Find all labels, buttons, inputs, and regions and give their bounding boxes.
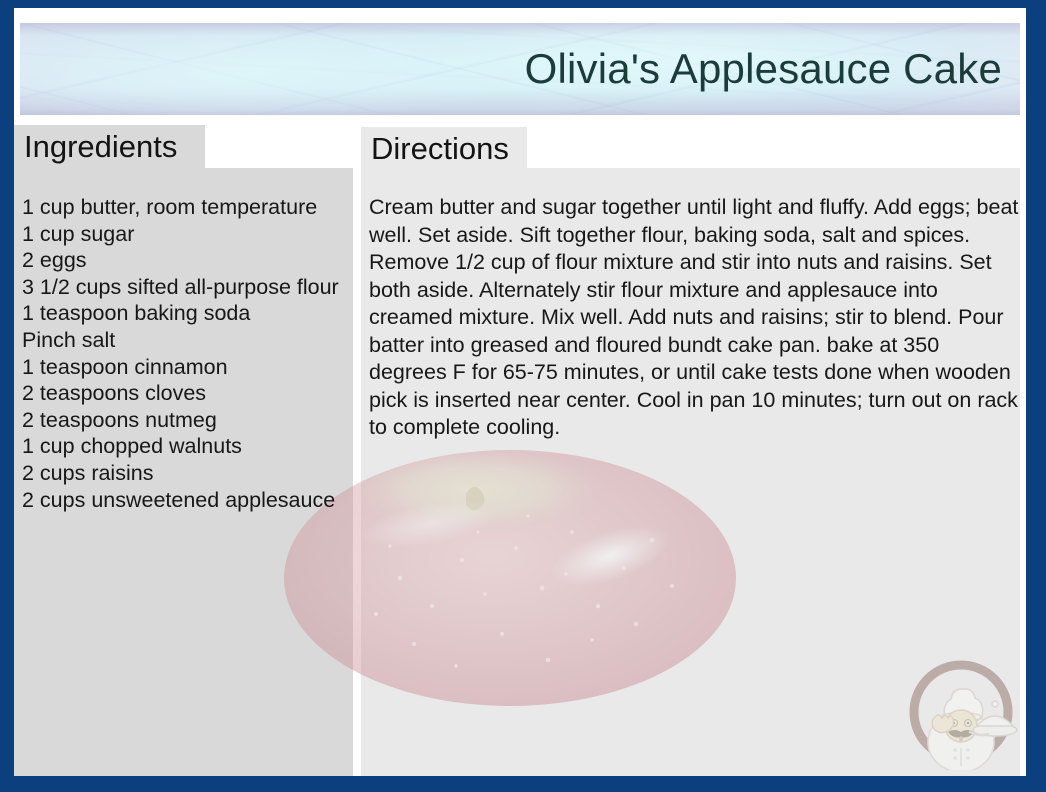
list-item: 2 cups raisins — [22, 460, 352, 487]
tab-ingredients-label: Ingredients — [24, 129, 177, 165]
list-item: 1 cup butter, room temperature — [22, 194, 352, 221]
list-item: 2 cups unsweetened applesauce — [22, 487, 352, 514]
list-item: 2 teaspoons cloves — [22, 380, 352, 407]
recipe-page: Olivia's Applesauce Cake — [14, 8, 1026, 776]
tab-directions[interactable]: Directions — [361, 127, 527, 171]
ingredients-list: 1 cup butter, room temperature 1 cup sug… — [22, 194, 352, 513]
title-banner: Olivia's Applesauce Cake — [20, 23, 1020, 115]
list-item: 2 eggs — [22, 247, 352, 274]
list-item: 1 teaspoon cinnamon — [22, 354, 352, 381]
list-item: 1 teaspoon baking soda — [22, 300, 352, 327]
list-item: 1 cup chopped walnuts — [22, 433, 352, 460]
page-title: Olivia's Applesauce Cake — [525, 48, 1002, 90]
list-item: 2 teaspoons nutmeg — [22, 407, 352, 434]
tab-directions-label: Directions — [371, 131, 509, 167]
list-item: 1 cup sugar — [22, 221, 352, 248]
list-item: 3 1/2 cups sifted all-purpose flour — [22, 274, 352, 301]
tab-ingredients[interactable]: Ingredients — [14, 125, 205, 169]
list-item: Pinch salt — [22, 327, 352, 354]
recipe-card: Olivia's Applesauce Cake — [0, 0, 1046, 792]
directions-text: Cream butter and sugar together until li… — [369, 194, 1019, 442]
